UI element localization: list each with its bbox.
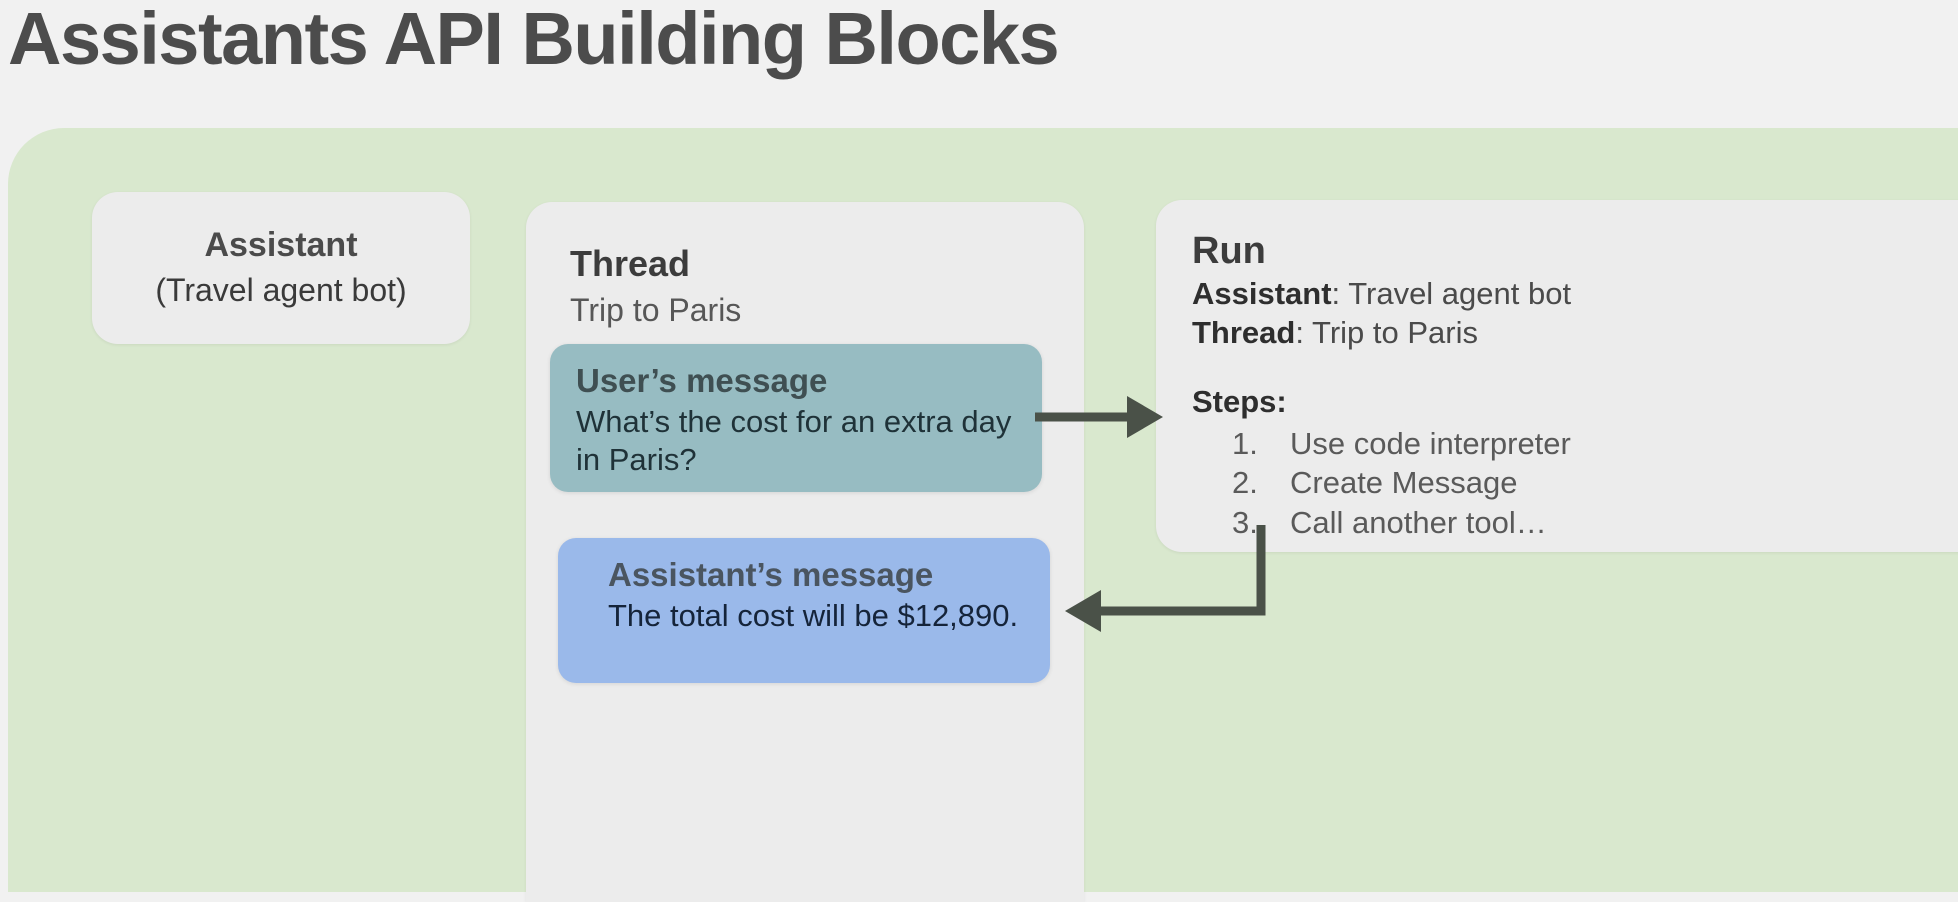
run-step-number: 1. — [1192, 424, 1288, 464]
run-thread-line: Thread: Trip to Paris — [1192, 313, 1958, 353]
thread-card-header: Thread Trip to Paris — [526, 202, 1084, 332]
assistant-card-title: Assistant — [204, 224, 357, 267]
thread-card-title: Thread — [570, 242, 1084, 285]
run-assistant-value: Travel agent bot — [1348, 276, 1571, 311]
run-card[interactable]: Run Assistant: Travel agent bot Thread: … — [1156, 200, 1958, 552]
run-step-number: 3. — [1192, 503, 1288, 543]
run-thread-label: Thread — [1192, 315, 1295, 350]
assistant-card-subtitle: (Travel agent bot) — [155, 270, 406, 312]
assistant-message-bubble[interactable]: Assistant’s message The total cost will … — [558, 538, 1050, 683]
assistant-message-title: Assistant’s message — [584, 554, 1024, 595]
run-thread-separator: : — [1295, 315, 1312, 350]
user-message-title: User’s message — [576, 360, 1016, 401]
run-assistant-line: Assistant: Travel agent bot — [1192, 274, 1958, 314]
run-step-item: 3. Call another tool… — [1192, 503, 1958, 543]
user-message-bubble[interactable]: User’s message What’s the cost for an ex… — [550, 344, 1042, 492]
run-steps-list: 1. Use code interpreter 2. Create Messag… — [1192, 424, 1958, 543]
run-step-item: 1. Use code interpreter — [1192, 424, 1958, 464]
run-card-title: Run — [1192, 230, 1958, 274]
run-thread-value: Trip to Paris — [1312, 315, 1478, 350]
run-step-number: 2. — [1192, 463, 1288, 503]
run-step-text: Use code interpreter — [1288, 424, 1571, 464]
run-step-text: Create Message — [1288, 463, 1517, 503]
assistant-message-body: The total cost will be $12,890. — [584, 597, 1024, 635]
run-step-item: 2. Create Message — [1192, 463, 1958, 503]
thread-card-subtitle: Trip to Paris — [570, 289, 1084, 332]
page-title: Assistants API Building Blocks — [8, 0, 1058, 81]
run-assistant-separator: : — [1332, 276, 1349, 311]
run-steps-label: Steps: — [1192, 383, 1958, 422]
user-message-body: What’s the cost for an extra day in Pari… — [576, 403, 1016, 479]
run-step-text: Call another tool… — [1288, 503, 1547, 543]
assistant-card[interactable]: Assistant (Travel agent bot) — [92, 192, 470, 344]
run-assistant-label: Assistant — [1192, 276, 1332, 311]
